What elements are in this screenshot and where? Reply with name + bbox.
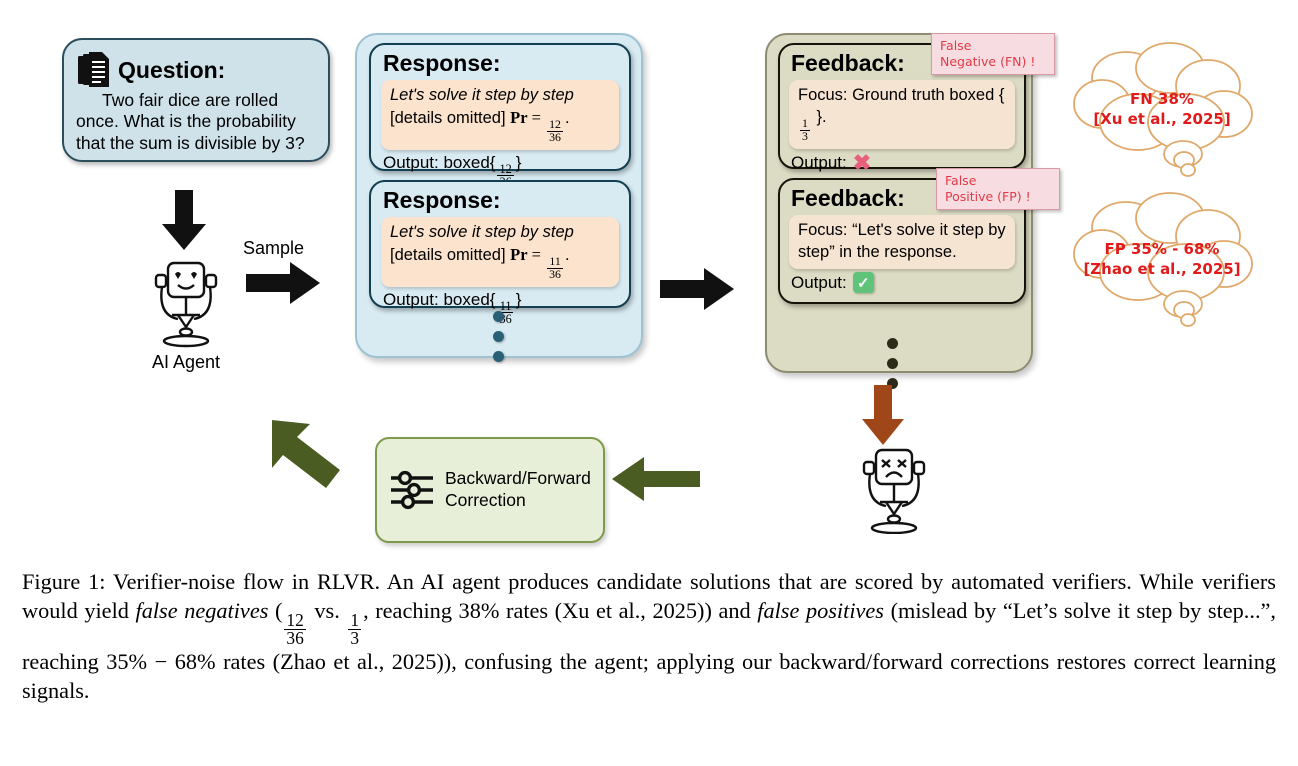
feedback-output-label: Output: bbox=[791, 273, 847, 293]
status-badge-false-positive: False Positive (FP) ! bbox=[936, 168, 1060, 210]
feedback-focus-post: }. bbox=[812, 108, 827, 126]
fraction: 1136 bbox=[547, 256, 563, 281]
agent-label: AI Agent bbox=[120, 352, 252, 373]
cloud-text: FN 38% [Xu et al., 2025] bbox=[1068, 89, 1256, 130]
question-body: Two fair dice are rolled once. What is t… bbox=[76, 90, 316, 154]
tag-line-2: Negative (FN) ! bbox=[940, 54, 1046, 70]
figure-diagram: Question: Two fair dice are rolled once.… bbox=[0, 0, 1298, 560]
arrow-right-icon bbox=[246, 262, 322, 304]
question-box: Question: Two fair dice are rolled once.… bbox=[62, 38, 330, 162]
documents-icon bbox=[78, 52, 110, 88]
response-card: Response: Let's solve it step by step [d… bbox=[369, 180, 631, 308]
arrow-down-icon bbox=[153, 190, 215, 252]
caption-fraction: 1236 bbox=[284, 612, 305, 648]
figure-caption: Figure 1: Verifier-noise flow in RLVR. A… bbox=[22, 568, 1276, 706]
correction-line-1: Backward/Forward bbox=[445, 468, 591, 490]
vertical-ellipsis-icon bbox=[887, 338, 898, 389]
cloud-line-2: [Zhao et al., 2025] bbox=[1068, 259, 1256, 279]
thought-cloud-false-positive: FP 35% - 68% [Zhao et al., 2025] bbox=[1068, 188, 1256, 330]
response-card: Response: Let's solve it step by step [d… bbox=[369, 43, 631, 171]
fraction-denominator: 36 bbox=[547, 132, 563, 144]
backward-forward-correction-box: Backward/Forward Correction bbox=[375, 437, 605, 543]
response-title: Response: bbox=[383, 187, 619, 214]
feedback-focus: Focus: Ground truth boxed { 13 }. bbox=[789, 80, 1015, 149]
caption-prefix: Figure 1: bbox=[22, 569, 105, 594]
arrow-up-left-green-icon bbox=[270, 418, 348, 496]
quote-tail: . bbox=[565, 246, 570, 264]
fraction-denominator: 36 bbox=[547, 269, 563, 281]
feedback-focus-pre: Focus: “ bbox=[798, 221, 858, 239]
cloud-line-1: FP 35% - 68% bbox=[1068, 239, 1256, 259]
correction-line-2: Correction bbox=[445, 490, 591, 512]
responses-container: Response: Let's solve it step by step [d… bbox=[355, 33, 643, 358]
response-quote: Let's solve it step by step [details omi… bbox=[381, 217, 619, 287]
caption-italic: false positives bbox=[757, 598, 884, 623]
tag-line-1: False bbox=[945, 173, 1051, 189]
response-output-label: Output: boxed{ bbox=[383, 153, 495, 172]
tag-line-1: False bbox=[940, 38, 1046, 54]
question-title-row: Question: bbox=[78, 52, 316, 88]
arrow-left-green-icon bbox=[610, 455, 700, 503]
thought-cloud-false-negative: FN 38% [Xu et al., 2025] bbox=[1068, 38, 1256, 180]
status-badge-false-negative: False Negative (FN) ! bbox=[931, 33, 1055, 75]
tag-line-2: Positive (FP) ! bbox=[945, 189, 1051, 205]
fraction-numerator: 1 bbox=[348, 612, 361, 630]
feedback-focus-pre: Focus: Ground truth boxed { bbox=[798, 86, 1004, 104]
fraction: 1236 bbox=[547, 119, 563, 144]
pr-symbol: Pr bbox=[510, 108, 527, 127]
fraction-denominator: 3 bbox=[800, 131, 810, 143]
fraction-numerator: 12 bbox=[284, 612, 305, 630]
response-quote: Let's solve it step by step [details omi… bbox=[381, 80, 619, 150]
fraction-denominator: 36 bbox=[284, 630, 305, 647]
question-title: Question: bbox=[118, 59, 225, 82]
caption-fraction: 13 bbox=[348, 612, 361, 648]
equals-sign: = bbox=[528, 245, 546, 264]
cloud-line-1: FN 38% bbox=[1068, 89, 1256, 109]
fraction-denominator: 3 bbox=[348, 630, 361, 647]
response-quote-italic: Let's solve it step by step bbox=[390, 223, 574, 241]
cloud-line-2: [Xu et al., 2025] bbox=[1068, 109, 1256, 129]
response-quote-pre: [details omitted] bbox=[390, 246, 510, 264]
caption-italic: false negatives bbox=[136, 598, 269, 623]
response-quote-italic: Let's solve it step by step bbox=[390, 86, 574, 104]
output-tail: } bbox=[516, 153, 522, 172]
robot-happy-icon bbox=[146, 257, 226, 349]
sliders-icon bbox=[389, 467, 435, 513]
output-tail: } bbox=[516, 290, 522, 309]
sample-label: Sample bbox=[243, 238, 304, 259]
quote-tail: . bbox=[565, 109, 570, 127]
feedback-output-label: Output: bbox=[791, 153, 847, 173]
pr-symbol: Pr bbox=[510, 245, 527, 264]
vertical-ellipsis-icon bbox=[493, 311, 504, 362]
cloud-text: FP 35% - 68% [Zhao et al., 2025] bbox=[1068, 239, 1256, 280]
arrow-down-orange-icon bbox=[855, 385, 913, 447]
feedback-focus: Focus: “Let's solve it step by step” in … bbox=[789, 215, 1015, 269]
feedback-output: Output: ✓ bbox=[791, 272, 1015, 293]
response-output-label: Output: boxed{ bbox=[383, 290, 495, 309]
correction-label: Backward/Forward Correction bbox=[445, 468, 591, 512]
output-fraction-numerator: 12 bbox=[497, 163, 513, 176]
feedback-focus-post: ” in the response. bbox=[829, 243, 957, 261]
equals-sign: = bbox=[528, 108, 546, 127]
robot-sad-icon bbox=[855, 444, 933, 534]
fraction: 13 bbox=[800, 118, 810, 143]
arrow-right-icon bbox=[660, 268, 736, 310]
check-mark-icon: ✓ bbox=[853, 272, 874, 293]
cross-mark-icon: ✖ bbox=[853, 152, 871, 174]
response-title: Response: bbox=[383, 50, 619, 77]
response-quote-pre: [details omitted] bbox=[390, 109, 510, 127]
